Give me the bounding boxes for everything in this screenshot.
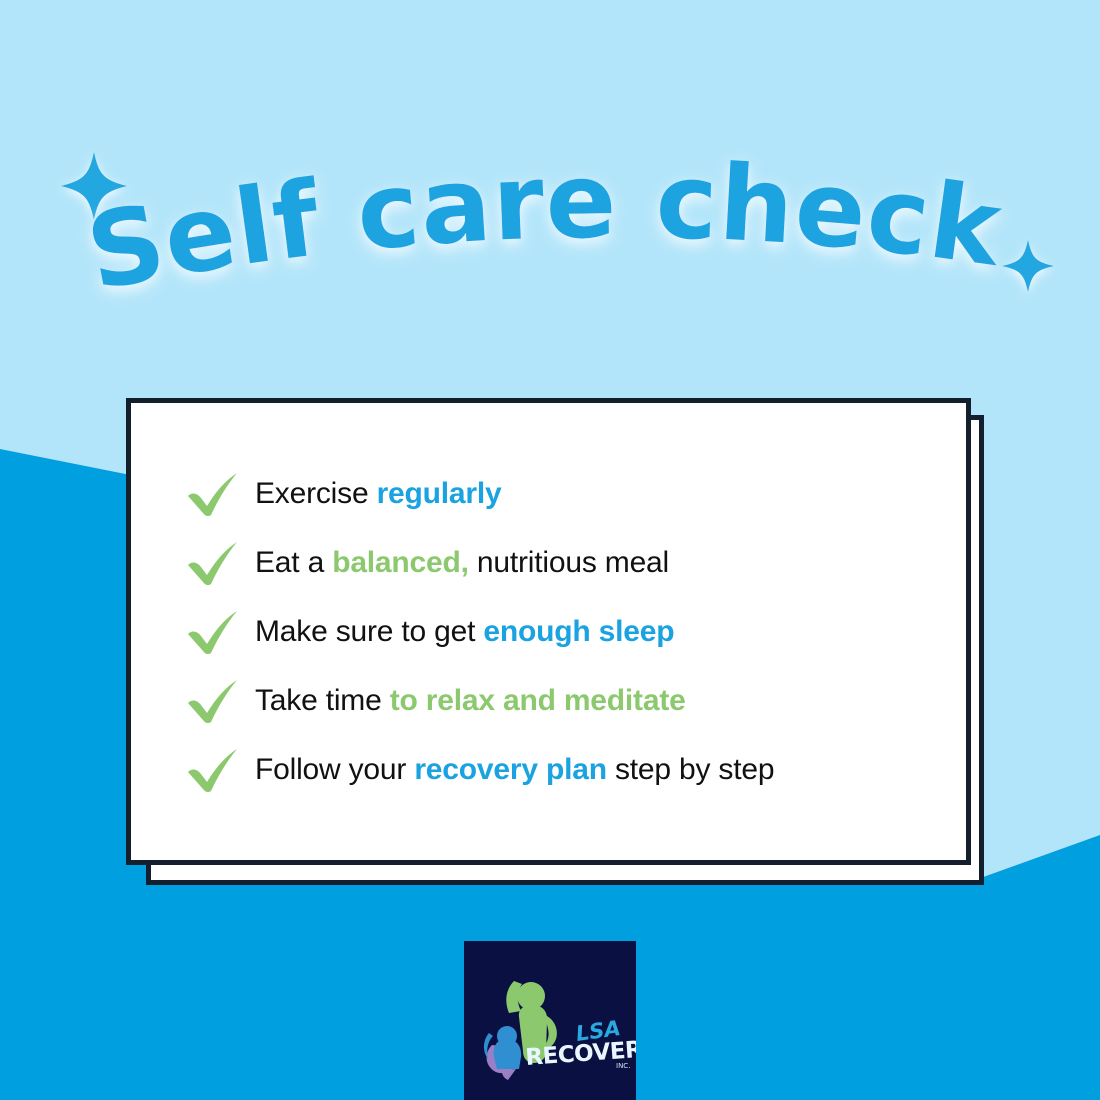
page-title: Self care checklist <box>0 118 1100 338</box>
title-textpath: Self care checklist <box>0 118 1011 314</box>
check-icon <box>183 746 241 794</box>
text-part-highlight: balanced, <box>332 546 469 579</box>
check-icon <box>183 608 241 656</box>
text-part-highlight: recovery plan <box>414 753 607 786</box>
text-part-highlight: regularly <box>377 477 502 510</box>
text-part: step by step <box>607 753 775 786</box>
text-part: Eat a <box>255 546 332 579</box>
logo-svg: LSA RECOVERY INC. <box>464 941 636 1100</box>
title-svg: Self care checklist <box>0 118 1100 338</box>
logo-trademark: INC. <box>616 1062 630 1070</box>
check-icon <box>183 677 241 725</box>
logo-figure-blue-body <box>494 1039 521 1069</box>
list-item[interactable]: Eat a balanced, nutritious meal <box>183 528 966 597</box>
checklist-items: Exercise regularly Eat a balanced, nutri… <box>131 403 966 860</box>
checklist-card: Exercise regularly Eat a balanced, nutri… <box>126 398 971 865</box>
text-part-highlight: to relax and meditate <box>390 684 686 717</box>
list-item-label: Exercise regularly <box>255 479 502 509</box>
list-item-label: Take time to relax and meditate <box>255 686 686 716</box>
list-item[interactable]: Make sure to get enough sleep <box>183 597 966 666</box>
text-part: Make sure to get <box>255 615 483 648</box>
text-part: Take time <box>255 684 390 717</box>
poster-canvas: Self care checklist Exercise regularly <box>0 0 1100 1100</box>
list-item-label: Eat a balanced, nutritious meal <box>255 548 669 578</box>
list-item[interactable]: Take time to relax and meditate <box>183 666 966 735</box>
list-item-label: Make sure to get enough sleep <box>255 617 674 647</box>
svg-text:Self care checklist: Self care checklist <box>0 118 1011 314</box>
brand-logo[interactable]: LSA RECOVERY INC. <box>464 941 636 1100</box>
text-part: nutritious meal <box>469 546 669 579</box>
sparkle-icon-right <box>1002 240 1054 292</box>
text-part: Exercise <box>255 477 377 510</box>
list-item[interactable]: Follow your recovery plan step by step <box>183 735 966 804</box>
text-part: Follow your <box>255 753 414 786</box>
text-part-highlight: enough sleep <box>483 615 674 648</box>
check-icon <box>183 470 241 518</box>
list-item-label: Follow your recovery plan step by step <box>255 755 774 785</box>
list-item[interactable]: Exercise regularly <box>183 459 966 528</box>
check-icon <box>183 539 241 587</box>
